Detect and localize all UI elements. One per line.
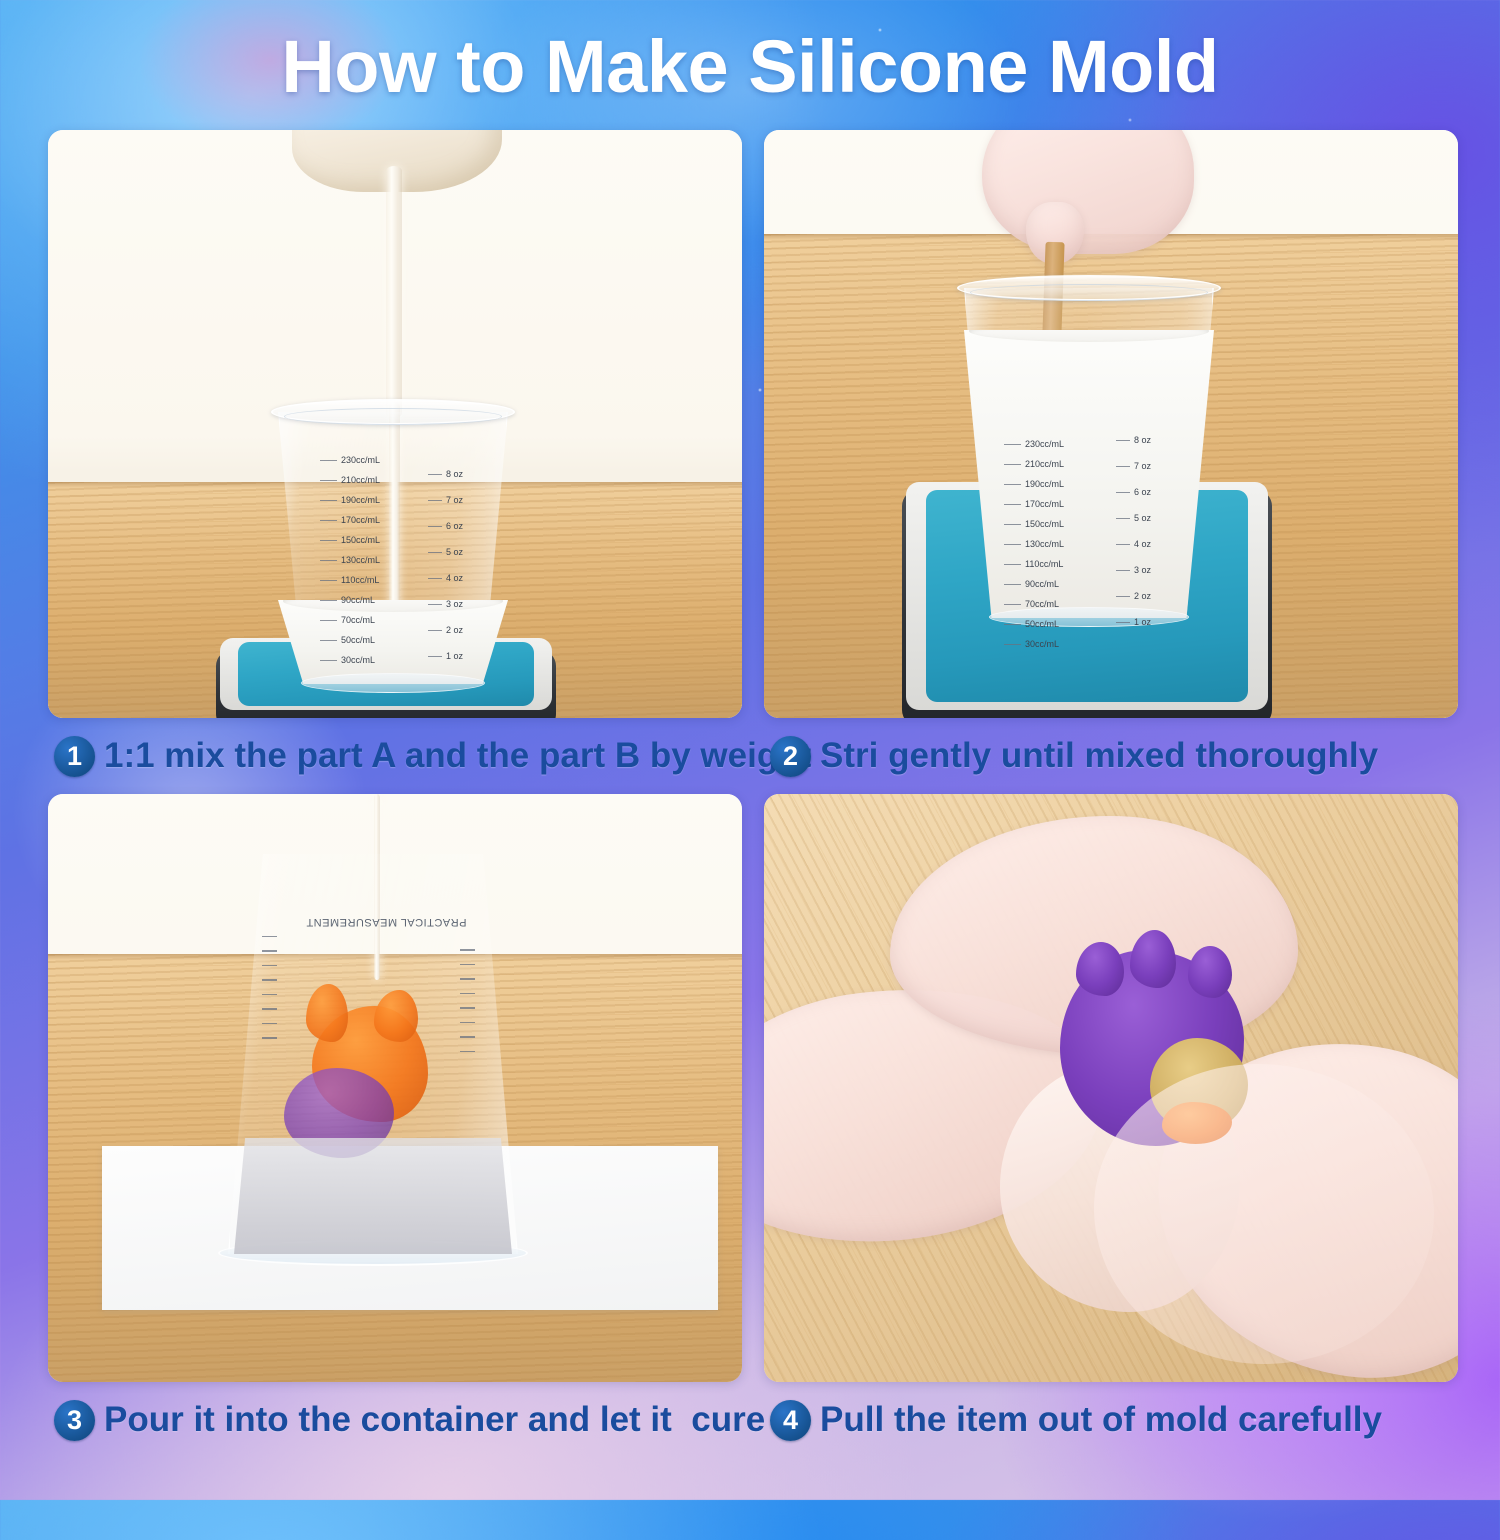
step-caption-text-3: Pour it into the container and let it cu… bbox=[104, 1400, 765, 1440]
purple-item-spike-right bbox=[1188, 946, 1232, 998]
steps-grid: 230cc/mL 210cc/mL 190cc/mL 170cc/mL 150c… bbox=[48, 130, 1453, 1458]
cup-oz-scale: 8 oz 7 oz 6 oz 5 oz 4 oz 3 oz 2 oz 1 oz bbox=[1116, 436, 1151, 627]
pouring-stream bbox=[386, 166, 402, 418]
cup-printed-label: PRACTICAL MEASUREMENT bbox=[306, 916, 466, 928]
step-4-caption: 4 Pull the item out of mold carefully bbox=[764, 1382, 1458, 1458]
step-3-caption: 3 Pour it into the container and let it … bbox=[48, 1382, 742, 1458]
step-card-1: 230cc/mL 210cc/mL 190cc/mL 170cc/mL 150c… bbox=[48, 130, 742, 794]
silicone-liquid bbox=[278, 600, 508, 684]
step-number-badge-2: 2 bbox=[770, 736, 811, 777]
step-caption-text-1: 1:1 mix the part A and the part B by wei… bbox=[104, 736, 811, 776]
gloved-hand bbox=[982, 130, 1194, 254]
graduated-mixing-cup: 230cc/mL 210cc/mL 190cc/mL 170cc/mL 150c… bbox=[278, 412, 508, 684]
cup-inner-rim bbox=[284, 408, 502, 425]
step-1-photo: 230cc/mL 210cc/mL 190cc/mL 170cc/mL 150c… bbox=[48, 130, 742, 718]
step-2-caption: 2 Stri gently until mixed thoroughly bbox=[764, 718, 1458, 794]
step-2-photo: 230cc/mL 210cc/mL 190cc/mL 170cc/mL 150c… bbox=[764, 130, 1458, 718]
cup-oz-scale: 8 oz 7 oz 6 oz 5 oz 4 oz 3 oz 2 oz 1 oz bbox=[428, 470, 463, 661]
cup-ml-scale: 230cc/mL 210cc/mL 190cc/mL 170cc/mL 150c… bbox=[1004, 440, 1064, 649]
cup-oz-scale bbox=[460, 936, 475, 1052]
steps-row-bottom: PRACTICAL MEASUREMENT 3 Pour it into the… bbox=[48, 794, 1453, 1458]
step-1-caption: 1 1:1 mix the part A and the part B by w… bbox=[48, 718, 742, 794]
step-3-photo: PRACTICAL MEASUREMENT bbox=[48, 794, 742, 1382]
orange-item-ear-left bbox=[306, 984, 348, 1042]
purple-item-spike-mid bbox=[1130, 930, 1176, 988]
purple-item-spike-left bbox=[1076, 942, 1124, 996]
cured-silicone-pool bbox=[234, 1138, 512, 1254]
glove-film-overlay bbox=[1094, 1064, 1434, 1364]
cup-ml-scale: 230cc/mL 210cc/mL 190cc/mL 170cc/mL 150c… bbox=[320, 456, 380, 665]
step-number-badge-4: 4 bbox=[770, 1400, 811, 1441]
steps-row-top: 230cc/mL 210cc/mL 190cc/mL 170cc/mL 150c… bbox=[48, 130, 1453, 794]
step-caption-text-2: Stri gently until mixed thoroughly bbox=[820, 736, 1378, 776]
cup-base bbox=[301, 673, 485, 693]
page-title: How to Make Silicone Mold bbox=[0, 24, 1500, 109]
cup-ml-scale bbox=[262, 936, 277, 1052]
cup-inner-rim bbox=[970, 284, 1208, 301]
inverted-graduated-cup: PRACTICAL MEASUREMENT bbox=[228, 854, 518, 1254]
step-card-4: 4 Pull the item out of mold carefully bbox=[764, 794, 1458, 1458]
graduated-mixing-cup: 230cc/mL 210cc/mL 190cc/mL 170cc/mL 150c… bbox=[964, 288, 1214, 618]
step-card-3: PRACTICAL MEASUREMENT 3 Pour it into the… bbox=[48, 794, 742, 1458]
silicone-mixture bbox=[964, 330, 1214, 618]
step-caption-text-4: Pull the item out of mold carefully bbox=[820, 1400, 1382, 1440]
step-card-2: 230cc/mL 210cc/mL 190cc/mL 170cc/mL 150c… bbox=[764, 130, 1458, 794]
step-4-photo bbox=[764, 794, 1458, 1382]
step-number-badge-3: 3 bbox=[54, 1400, 95, 1441]
step-number-badge-1: 1 bbox=[54, 736, 95, 777]
